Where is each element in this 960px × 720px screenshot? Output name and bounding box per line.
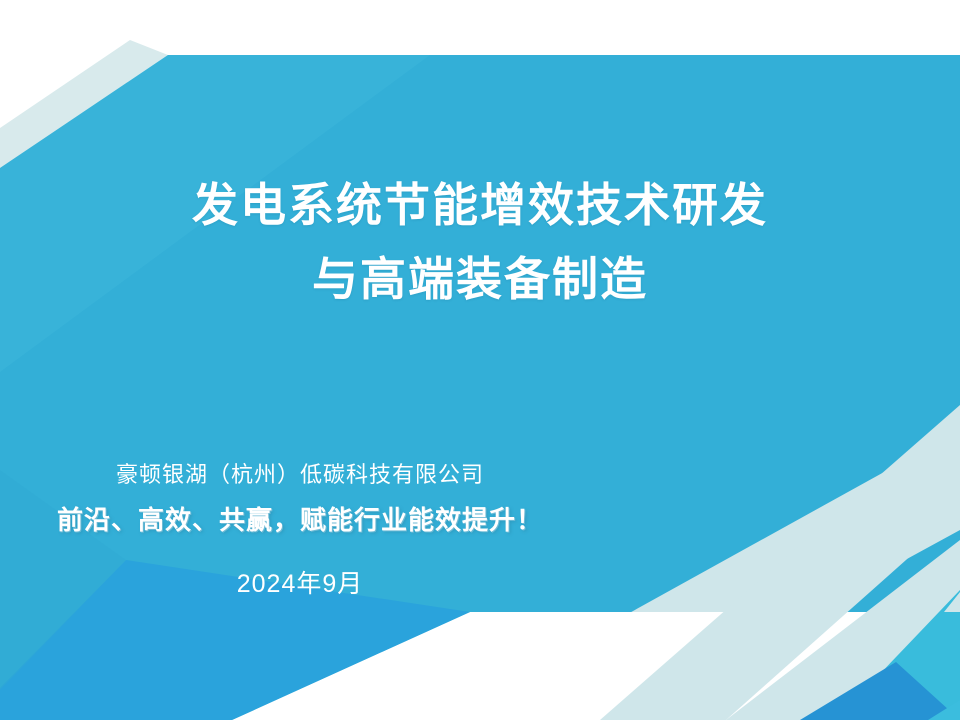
title-slide: 发电系统节能增效技术研发 与高端装备制造 豪顿银湖（杭州）低碳科技有限公司 前沿… <box>0 0 960 720</box>
slide-content: 发电系统节能增效技术研发 与高端装备制造 豪顿银湖（杭州）低碳科技有限公司 前沿… <box>0 0 960 720</box>
title-line-2: 与高端装备制造 <box>0 242 960 316</box>
identity-block: 豪顿银湖（杭州）低碳科技有限公司 前沿、高效、共赢，赋能行业能效提升！ 2024… <box>0 458 600 610</box>
slogan-text: 前沿、高效、共赢，赋能行业能效提升！ <box>0 492 600 548</box>
date-text: 2024年9月 <box>0 558 600 610</box>
slide-title: 发电系统节能增效技术研发 与高端装备制造 <box>0 168 960 316</box>
organization-name: 豪顿银湖（杭州）低碳科技有限公司 <box>0 458 600 492</box>
title-line-1: 发电系统节能增效技术研发 <box>0 168 960 242</box>
